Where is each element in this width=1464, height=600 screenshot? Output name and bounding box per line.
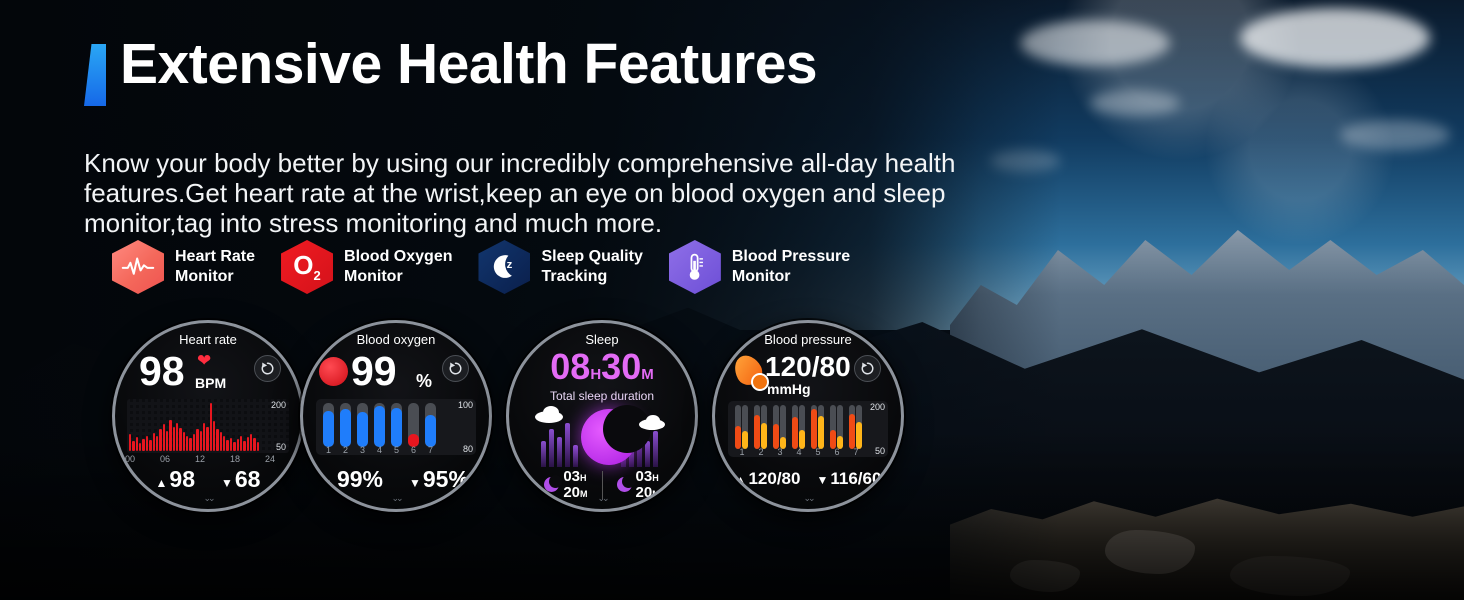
heart-icon: ❤ [197, 351, 211, 371]
chart-bar-pair [754, 405, 768, 449]
blood-pressure-x-axis: 1234567 [735, 447, 867, 457]
diastolic-track [856, 405, 862, 449]
up-arrow-icon: ▲ [156, 476, 168, 490]
chart-bar [196, 429, 198, 451]
skyline-building [557, 437, 562, 467]
chart-bar [216, 429, 218, 451]
feature-label-line2: Monitor [344, 267, 452, 287]
feature-label: Heart Rate Monitor [175, 247, 255, 286]
heart-rate-stats: ▲98 ▼68 [115, 466, 301, 493]
blood-oxygen-bars [323, 403, 455, 447]
feature-label: Blood Pressure Monitor [732, 247, 850, 286]
chart-bar [132, 441, 134, 451]
high-value: 99% [337, 466, 383, 492]
chart-bar-track [340, 403, 351, 447]
x-tick: 4 [374, 445, 385, 455]
feature-label: Blood Oxygen Monitor [344, 247, 452, 286]
low-value: 95% [423, 466, 469, 492]
x-tick: 4 [792, 447, 806, 457]
heart-rate-value: 98 [139, 351, 185, 392]
stat-hours: 03 [563, 468, 580, 485]
heart-rate-bars [129, 401, 259, 451]
chart-bar [129, 434, 131, 451]
blood-pressure-unit: mmHg [767, 381, 811, 397]
chart-bar-fill [357, 412, 368, 447]
low-value: 116/60 [830, 469, 881, 488]
systolic-bar [792, 417, 798, 449]
chevron-down-icon[interactable]: ⌄⌄ [303, 493, 489, 504]
x-tick: 3 [357, 445, 368, 455]
watch-title: Sleep [509, 332, 695, 347]
chart-bar-fill [323, 411, 334, 447]
chart-bar-fill [340, 409, 351, 447]
oxygen-molecule-icon [319, 357, 348, 386]
heart-rate-icon [112, 240, 164, 294]
chart-bar [166, 431, 168, 451]
blood-oxygen-x-axis: 1234567 [323, 445, 455, 455]
watch-face-blood-pressure[interactable]: Blood pressure 120/80 mmHg 1234567 200 5… [712, 320, 904, 512]
feature-label-line2: Monitor [175, 267, 255, 287]
low-stat: ▼95% [409, 466, 469, 493]
cloud-icon [646, 415, 660, 426]
chart-bar [223, 436, 225, 451]
systolic-bar [754, 415, 760, 449]
stat-hours: 03 [636, 468, 653, 485]
subtitle-text: Know your body better by using our incre… [84, 148, 994, 238]
sleep-caption: Total sleep duration [509, 389, 695, 403]
diastolic-bar [818, 416, 824, 449]
diastolic-track [799, 405, 805, 449]
diastolic-track [761, 405, 767, 449]
x-tick: 12 [195, 454, 205, 464]
chart-bar [243, 441, 245, 451]
chevron-down-icon[interactable]: ⌄⌄ [115, 493, 301, 504]
x-tick: 5 [811, 447, 825, 457]
heart-rate-chart: 200 50 [127, 399, 289, 453]
heart-rate-unit: BPM [195, 375, 226, 391]
chart-bar [149, 440, 151, 451]
skyline-building [565, 423, 570, 467]
blood-pressure-chart: 1234567 200 50 [728, 401, 888, 457]
blood-oxygen-chart: 1234567 100 80 [316, 399, 476, 455]
chart-bar-fill [391, 408, 402, 447]
systolic-bar [735, 426, 741, 449]
systolic-track [792, 405, 798, 449]
chart-bar-pair [773, 405, 787, 449]
x-tick: 6 [408, 445, 419, 455]
blood-oxygen-value: 99 [351, 351, 397, 392]
axis-min-label: 80 [463, 444, 473, 454]
svg-text:z: z [507, 259, 513, 271]
sleep-duration: 08H30M [509, 349, 695, 385]
chart-bar-pair [792, 405, 806, 449]
x-tick: 7 [849, 447, 863, 457]
chart-bar [146, 436, 148, 451]
chart-bar [203, 423, 205, 451]
chart-bar [139, 443, 141, 451]
low-value: 68 [235, 466, 261, 492]
feature-heart-rate[interactable]: Heart Rate Monitor [112, 240, 255, 294]
chart-bar [257, 442, 259, 451]
watch-face-blood-oxygen[interactable]: Blood oxygen 99 % 1234567 100 80 [300, 320, 492, 512]
watch-face-sleep[interactable]: Sleep 08H30M Total sleep duration [506, 320, 698, 512]
skyline-building [653, 431, 658, 467]
high-stat: ▲99% [323, 466, 383, 493]
chart-bar [233, 442, 235, 451]
chart-bar [159, 429, 161, 451]
systolic-track [773, 405, 779, 449]
axis-min-label: 50 [276, 442, 286, 452]
systolic-track [811, 405, 817, 449]
diastolic-bar [761, 423, 767, 449]
systolic-track [849, 405, 855, 449]
chart-bar-pair [849, 405, 863, 449]
health-features-banner: Extensive Health Features Know your body… [0, 0, 1464, 600]
systolic-track [735, 405, 741, 449]
blood-oxygen-icon: O2 [281, 240, 333, 294]
systolic-track [754, 405, 760, 449]
chart-bar-fill [374, 406, 385, 447]
chart-bar [220, 432, 222, 451]
moon-z-icon [544, 477, 559, 492]
chart-bar [237, 439, 239, 451]
x-tick: 00 [125, 454, 135, 464]
down-arrow-icon: ▼ [409, 476, 421, 490]
high-value: 120/80 [748, 469, 800, 488]
chart-bar [240, 436, 242, 451]
chevron-down-icon[interactable]: ⌄⌄ [509, 493, 695, 504]
x-tick: 18 [230, 454, 240, 464]
feature-label-line1: Heart Rate [175, 247, 255, 267]
sleep-moon-icon: z [478, 240, 530, 294]
hours-unit: H [652, 473, 659, 483]
watch-title: Heart rate [115, 332, 301, 347]
blood-oxygen-stats: ▲99% ▼95% [303, 466, 489, 493]
down-arrow-icon: ▼ [221, 476, 233, 490]
accent-bar-icon [84, 44, 106, 106]
feature-label: Sleep Quality Tracking [541, 247, 642, 286]
x-tick: 6 [830, 447, 844, 457]
heart-rate-x-axis: 00 06 12 18 24 [125, 454, 275, 464]
chart-bar-track [357, 403, 368, 447]
axis-max-label: 100 [458, 400, 473, 410]
chart-bar [213, 421, 215, 451]
chart-bar-pair [811, 405, 825, 449]
feature-label-line1: Sleep Quality [541, 247, 642, 267]
chart-bar [200, 431, 202, 451]
low-stat: ▼116/60 [816, 469, 881, 489]
chart-bar-track [391, 403, 402, 447]
high-stat: ▲120/80 [735, 469, 801, 489]
down-arrow-icon: ▼ [816, 473, 828, 487]
title-row: Extensive Health Features [84, 36, 817, 106]
feature-sleep-quality[interactable]: z Sleep Quality Tracking [478, 240, 642, 294]
moon-z-icon [617, 477, 632, 492]
systolic-track [830, 405, 836, 449]
moon-icon [581, 409, 637, 465]
up-arrow-icon: ▲ [323, 476, 335, 490]
chart-bar [173, 427, 175, 451]
blood-pressure-bars [735, 405, 867, 449]
systolic-bar [849, 414, 855, 449]
x-tick: 7 [425, 445, 436, 455]
x-tick: 3 [773, 447, 787, 457]
diastolic-track [818, 405, 824, 449]
diastolic-bar [856, 422, 862, 449]
refresh-icon[interactable] [442, 355, 469, 382]
systolic-bar [773, 424, 779, 449]
chart-bar [206, 427, 208, 451]
chart-bar [250, 434, 252, 451]
x-tick: 24 [265, 454, 275, 464]
thermometer-icon [669, 240, 721, 294]
sleep-hours-unit: H [590, 366, 601, 383]
chart-bar [142, 439, 144, 451]
chart-bar [210, 403, 212, 451]
skyline-building [549, 429, 554, 467]
chart-bar [153, 433, 155, 451]
content-area: Extensive Health Features Know your body… [0, 0, 1010, 600]
page-title: Extensive Health Features [120, 36, 817, 93]
feature-label-line1: Blood Oxygen [344, 247, 452, 267]
sleep-minutes: 30 [601, 346, 641, 387]
chart-bar [226, 440, 228, 451]
chart-bar-track [425, 403, 436, 447]
watch-title: Blood pressure [715, 332, 901, 347]
chart-bar-pair [830, 405, 844, 449]
x-tick: 2 [340, 445, 351, 455]
x-tick: 2 [754, 447, 768, 457]
diastolic-track [780, 405, 786, 449]
feature-label-line1: Blood Pressure [732, 247, 850, 267]
chart-bar-track [374, 403, 385, 447]
chart-bar [156, 436, 158, 451]
diastolic-track [837, 405, 843, 449]
chart-bar-track [323, 403, 334, 447]
feature-label-line2: Tracking [541, 267, 642, 287]
refresh-icon[interactable] [254, 355, 281, 382]
x-tick: 5 [391, 445, 402, 455]
watch-face-heart-rate[interactable]: Heart rate 98 ❤ BPM 200 50 00 06 [112, 320, 304, 512]
chart-bar [253, 438, 255, 451]
low-stat: ▼68 [221, 466, 260, 493]
x-tick: 1 [735, 447, 749, 457]
chart-bar [183, 432, 185, 451]
skyline-building [541, 441, 546, 467]
chart-bar [136, 437, 138, 451]
cloud-icon [543, 406, 559, 419]
chart-bar [176, 423, 178, 451]
axis-max-label: 200 [271, 400, 286, 410]
feature-blood-pressure[interactable]: Blood Pressure Monitor [669, 240, 850, 294]
sleep-illustration [509, 405, 695, 467]
diastolic-track [742, 405, 748, 449]
x-tick: 06 [160, 454, 170, 464]
chart-bar-track [408, 403, 419, 447]
high-value: 98 [169, 466, 195, 492]
chevron-down-icon[interactable]: ⌄⌄ [715, 493, 901, 504]
skyline-building [645, 441, 650, 467]
skyline-building [573, 445, 578, 467]
systolic-bar [811, 409, 817, 449]
feature-blood-oxygen[interactable]: O2 Blood Oxygen Monitor [281, 240, 452, 294]
high-stat: ▲98 [156, 466, 195, 493]
chart-bar [179, 428, 181, 451]
axis-min-label: 50 [875, 446, 885, 456]
up-arrow-icon: ▲ [735, 473, 747, 487]
feature-label-line2: Monitor [732, 267, 850, 287]
sleep-hours: 08 [550, 346, 590, 387]
blood-pressure-stats: ▲120/80 ▼116/60 [715, 469, 901, 489]
refresh-icon[interactable] [854, 355, 881, 382]
chart-bar [247, 437, 249, 451]
chart-bar [186, 436, 188, 451]
feature-list: Heart Rate Monitor O2 Blood Oxygen Monit… [112, 240, 876, 294]
sleep-minutes-unit: M [641, 366, 654, 383]
chart-bar-fill [425, 415, 436, 447]
blood-oxygen-unit: % [416, 371, 432, 392]
blood-pressure-value: 120/80 [765, 353, 851, 381]
chart-bar [163, 424, 165, 451]
chart-bar [169, 420, 171, 451]
hours-unit: H [580, 473, 587, 483]
chart-bar [193, 434, 195, 451]
chart-bar-pair [735, 405, 749, 449]
chart-bar [189, 438, 191, 451]
x-tick: 1 [323, 445, 334, 455]
watch-title: Blood oxygen [303, 332, 489, 347]
axis-max-label: 200 [870, 402, 885, 412]
chart-bar [230, 438, 232, 451]
